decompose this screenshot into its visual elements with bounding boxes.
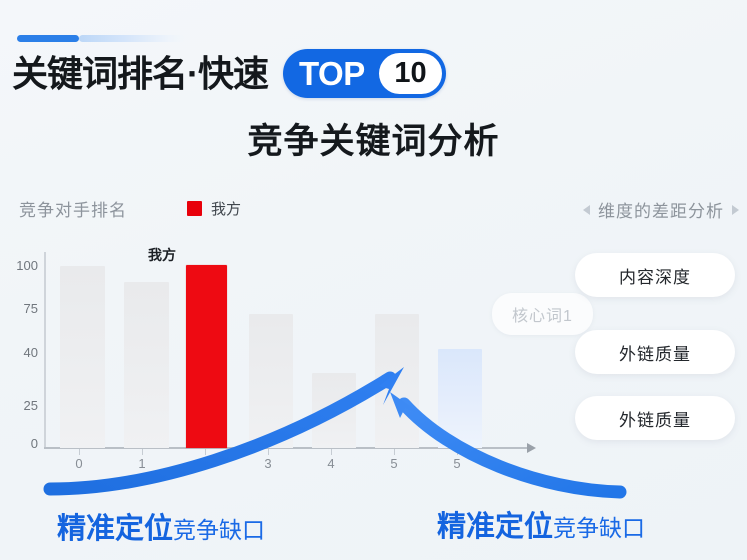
legend-item-label: 我方 [211,198,241,219]
bar-3[interactable] [249,314,293,448]
page-title: 竞争关键词分析 [0,113,747,164]
chevron-right-icon[interactable] [732,205,739,215]
legend-swatch-icon [187,201,202,216]
top-badge: TOP 10 [283,49,446,98]
caption-left: 精准定位 竞争缺口 [57,505,265,547]
caption-right-weak: 竞争缺口 [553,509,645,543]
x-tick-label-1: 1 [132,456,152,471]
legend-axis-title: 竞争对手排名 [19,196,127,221]
x-tick-2 [205,449,206,455]
x-tick-1 [142,449,143,455]
x-tick-5 [394,449,395,455]
progress-bar-track [79,35,185,42]
progress-bar-fill [17,35,79,42]
chart-legend: 竞争对手排名 我方 [19,196,241,221]
dimension-pill-content-depth[interactable]: 内容深度 [575,253,735,297]
dimension-pill-backlink-quality-1[interactable]: 外链质量 [575,330,735,374]
y-tick-label-25: 25 [4,398,38,413]
x-tick-label-0: 0 [69,456,89,471]
caption-right-strong: 精准定位 [437,503,553,545]
chevron-left-icon[interactable] [583,205,590,215]
bar-5[interactable] [375,314,419,448]
top-badge-label: TOP [299,55,365,93]
x-tick-label-2: 2 [195,456,215,471]
bar-1[interactable] [124,282,169,448]
y-tick-label-100: 100 [4,258,38,273]
highlight-bar-label: 我方 [132,245,192,265]
headline: 关键词排名·快速 [12,48,268,100]
x-tick-3 [268,449,269,455]
top-badge-number: 10 [379,53,442,94]
legend-item-mine: 我方 [187,198,241,219]
caption-left-strong: 精准定位 [57,505,173,547]
y-tick-label-75: 75 [4,301,38,316]
y-tick-label-40: 40 [4,345,38,360]
bar-4[interactable] [312,373,356,448]
bar-0[interactable] [60,266,105,448]
slide-canvas: 关键词排名·快速 TOP 10 竞争关键词分析 竞争对手排名 我方 维度的差距分… [0,0,747,560]
bar-6-opportunity[interactable] [438,349,482,448]
caption-right: 精准定位 竞争缺口 [437,503,645,545]
bar-2-highlight[interactable] [186,265,227,448]
ghost-pill-keyword: 核心词1 [492,293,593,335]
x-tick-label-3: 3 [258,456,278,471]
dimension-pill-backlink-quality-2[interactable]: 外链质量 [575,396,735,440]
x-tick-6 [457,449,458,455]
x-tick-label-5: 5 [384,456,404,471]
x-tick-label-6: 5 [447,456,467,471]
right-panel-title: 维度的差距分析 [598,197,724,222]
caption-left-weak: 竞争缺口 [173,511,265,545]
right-panel-header: 维度的差距分析 [583,197,739,222]
headline-text: 关键词排名·快速 [12,48,268,100]
x-tick-4 [331,449,332,455]
bar-chart-plot-area [44,252,532,448]
x-tick-label-4: 4 [321,456,341,471]
y-tick-label-0: 0 [4,436,38,451]
x-tick-0 [79,449,80,455]
